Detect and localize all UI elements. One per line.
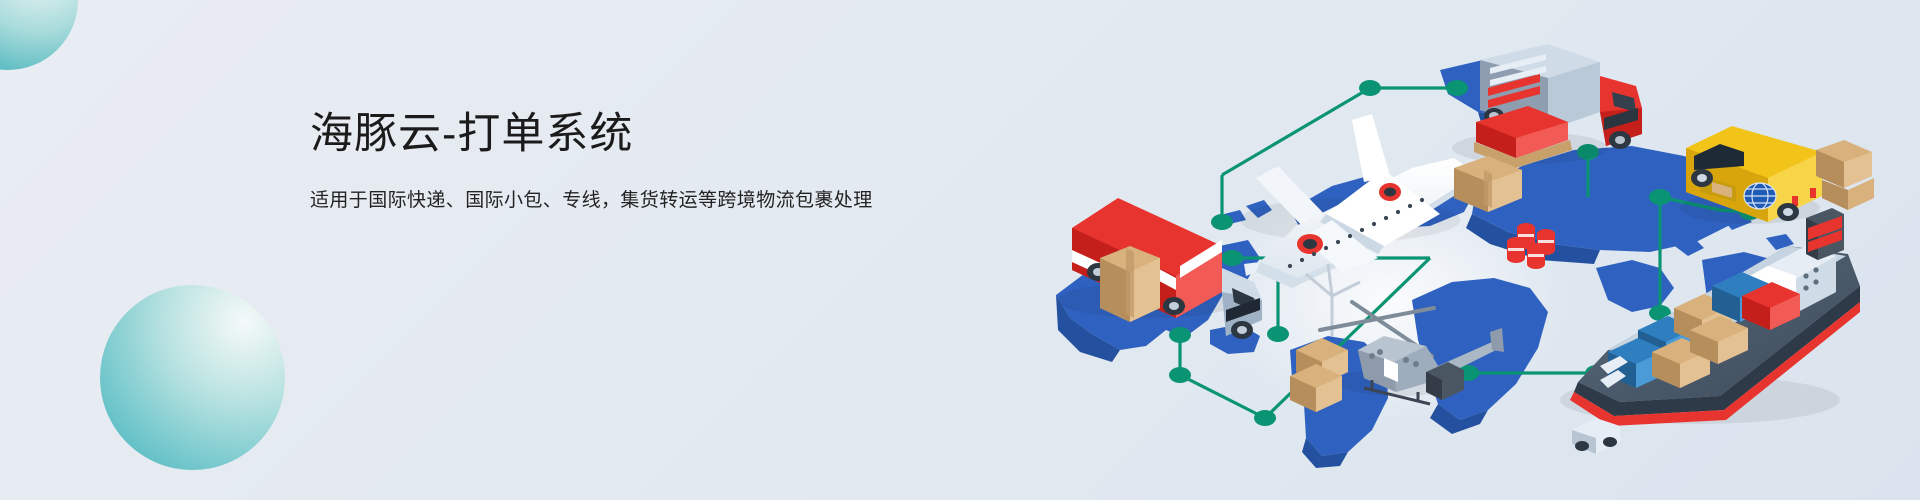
network-node-icon xyxy=(1169,367,1191,383)
network-node-icon xyxy=(1169,327,1191,343)
teal-gradient-circle-top-left xyxy=(0,0,78,70)
network-node-icon xyxy=(1267,326,1289,342)
network-node-icon xyxy=(1359,80,1381,96)
isometric-world-logistics-map xyxy=(960,0,1920,500)
network-node-icon xyxy=(1211,214,1233,230)
cargo-boxes-icon xyxy=(1290,338,1348,412)
page-subtitle: 适用于国际快递、国际小包、专线，集货转运等跨境物流包裹处理 xyxy=(310,187,930,216)
network-node-icon xyxy=(1446,80,1468,96)
yellow-delivery-van-icon xyxy=(1680,126,1874,224)
page-title: 海豚云-打单系统 xyxy=(310,108,930,161)
network-node-icon xyxy=(1221,250,1243,266)
network-node-icon xyxy=(1649,189,1671,205)
hero-banner: 海豚云-打单系统 适用于国际快递、国际小包、专线，集货转运等跨境物流包裹处理 xyxy=(0,0,1920,500)
teal-gradient-circle-bottom-left xyxy=(100,285,285,470)
network-node-icon xyxy=(1254,410,1276,426)
banner-text-block: 海豚云-打单系统 适用于国际快递、国际小包、专线，集货转运等跨境物流包裹处理 xyxy=(310,108,930,216)
